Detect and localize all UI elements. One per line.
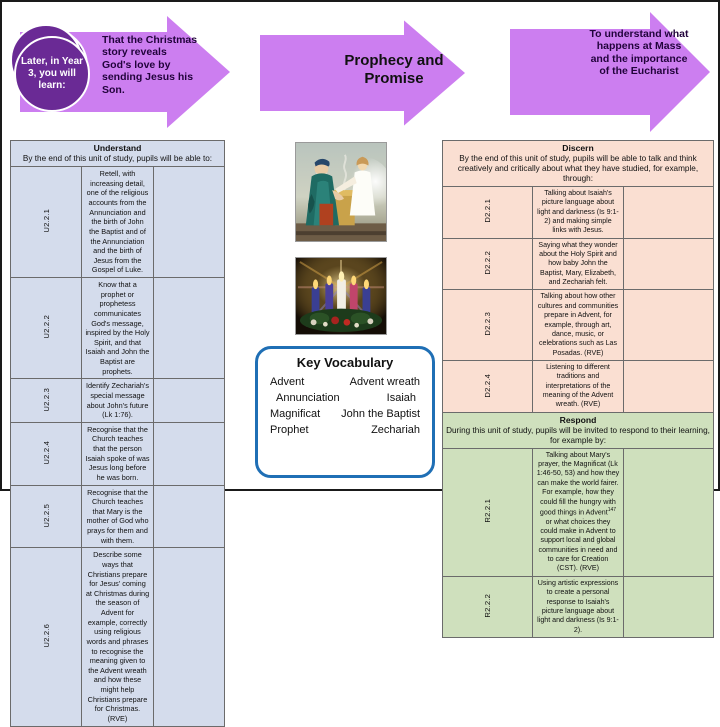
respond-heading-title: Respond xyxy=(446,415,710,425)
vocabulary-term: Advent wreath xyxy=(350,376,420,388)
row-code: U2.2.3 xyxy=(11,379,82,423)
row-notes-cell xyxy=(623,448,713,576)
vocabulary-term: Advent xyxy=(270,376,304,388)
key-vocabulary-title: Key Vocabulary xyxy=(266,355,424,370)
row-notes-cell xyxy=(153,278,224,379)
table-header-row: Respond During this unit of study, pupil… xyxy=(443,412,714,448)
row-code-label: D2.2.2 xyxy=(483,251,492,275)
row-code: U2.2.4 xyxy=(11,422,82,485)
row-notes-cell xyxy=(153,379,224,423)
row-description: Talking about how other cultures and com… xyxy=(533,290,623,361)
future-learning-text: To understand what happens at Mass and t… xyxy=(588,28,690,78)
row-code-label: U2.2.4 xyxy=(42,441,51,465)
understand-heading-sub: By the end of this unit of study, pupils… xyxy=(23,154,212,163)
row-code-label: U2.2.6 xyxy=(42,624,51,648)
row-description: Know that a prophet or prophetess commun… xyxy=(82,278,153,379)
advent-wreath-image xyxy=(295,257,387,335)
vocabulary-row: Advent Advent wreath xyxy=(266,374,424,390)
row-code: R2.2.1 xyxy=(443,448,533,576)
row-code-label: R2.2.2 xyxy=(483,594,492,618)
row-code: U2.2.1 xyxy=(11,167,82,278)
vocabulary-term: Isaiah xyxy=(387,392,416,404)
key-vocabulary-box: Key Vocabulary Advent Advent wreath Annu… xyxy=(255,346,435,478)
table-header-row: Discern By the end of this unit of study… xyxy=(443,141,714,187)
row-code: D2.2.2 xyxy=(443,238,533,290)
zechariah-illustration-icon xyxy=(296,143,386,241)
row-notes-cell xyxy=(623,360,713,412)
row-code: U2.2.5 xyxy=(11,485,82,548)
row-code-label: U2.2.5 xyxy=(42,504,51,528)
row-code: R2.2.2 xyxy=(443,576,533,637)
row-notes-cell xyxy=(623,290,713,361)
row-notes-cell xyxy=(623,576,713,637)
row-description: Talking about Mary's prayer, the Magnifi… xyxy=(533,448,623,576)
row-code: D2.2.1 xyxy=(443,186,533,238)
row-description: Saying what they wonder about the Holy S… xyxy=(533,238,623,290)
row-code-label: D2.2.3 xyxy=(483,312,492,336)
row-description-part: or what choices they could make in Adven… xyxy=(539,518,618,573)
vocabulary-term: John the Baptist xyxy=(341,408,420,420)
understand-heading: Understand By the end of this unit of st… xyxy=(11,141,225,167)
row-notes-cell xyxy=(623,186,713,238)
discern-heading: Discern By the end of this unit of study… xyxy=(443,141,714,187)
table-row: D2.2.1 Talking about Isaiah's picture la… xyxy=(443,186,714,238)
curriculum-slide: That the Christmas story reveals God's l… xyxy=(0,0,720,491)
vocabulary-term: Magnificat xyxy=(270,408,320,420)
row-code-label: U2.2.1 xyxy=(42,209,51,233)
respond-heading: Respond During this unit of study, pupil… xyxy=(443,412,714,448)
zechariah-annunciation-image xyxy=(295,142,387,242)
row-notes-cell xyxy=(153,422,224,485)
future-learning-arrow: To understand what happens at Mass and t… xyxy=(510,12,710,132)
row-code-label: D2.2.4 xyxy=(483,374,492,398)
row-code: U2.2.6 xyxy=(11,548,82,726)
understand-table: Understand By the end of this unit of st… xyxy=(10,140,225,727)
advent-wreath-illustration-icon xyxy=(296,258,386,334)
row-code: D2.2.4 xyxy=(443,360,533,412)
row-code-label: U2.2.2 xyxy=(42,315,51,339)
discern-heading-sub: By the end of this unit of study, pupils… xyxy=(458,154,698,183)
current-unit-arrow: Prophecy and Promise xyxy=(260,20,465,126)
row-description: Identify Zechariah's special message abo… xyxy=(82,379,153,423)
row-description: Retell, with increasing detail, one of t… xyxy=(82,167,153,278)
footnote-marker: 147 xyxy=(608,507,616,513)
row-description: Listening to different traditions and in… xyxy=(533,360,623,412)
table-row: D2.2.3 Talking about how other cultures … xyxy=(443,290,714,361)
table-row: D2.2.4 Listening to different traditions… xyxy=(443,360,714,412)
understand-heading-title: Understand xyxy=(14,143,221,153)
table-row: U2.2.5 Recognise that the Church teaches… xyxy=(11,485,225,548)
row-notes-cell xyxy=(623,238,713,290)
table-row: D2.2.2 Saying what they wonder about the… xyxy=(443,238,714,290)
row-description: Recognise that the Church teaches that t… xyxy=(82,422,153,485)
future-learning-badge: Later, in Year 3, you will learn: xyxy=(14,36,90,112)
discern-heading-title: Discern xyxy=(446,143,710,153)
vocabulary-row: Annunciation Isaiah xyxy=(266,390,424,406)
page-title: Prophecy and Promise xyxy=(338,52,450,87)
row-description: Recognise that the Church teaches that M… xyxy=(82,485,153,548)
row-code-label: R2.2.1 xyxy=(483,499,492,523)
vocabulary-row: Magnificat John the Baptist xyxy=(266,406,424,422)
vocabulary-term: Prophet xyxy=(270,424,309,436)
table-row: U2.2.2 Know that a prophet or prophetess… xyxy=(11,278,225,379)
row-description: Describe some ways that Christians prepa… xyxy=(82,548,153,726)
row-code-label: D2.2.1 xyxy=(483,199,492,223)
table-header-row: Understand By the end of this unit of st… xyxy=(11,141,225,167)
vocabulary-row: Prophet Zechariah xyxy=(266,422,424,438)
table-row: U2.2.1 Retell, with increasing detail, o… xyxy=(11,167,225,278)
vocabulary-term: Zechariah xyxy=(371,424,420,436)
row-description: Using artistic expressions to create a p… xyxy=(533,576,623,637)
row-code: U2.2.2 xyxy=(11,278,82,379)
table-row: U2.2.6 Describe some ways that Christian… xyxy=(11,548,225,726)
table-row: U2.2.4 Recognise that the Church teaches… xyxy=(11,422,225,485)
discern-respond-table: Discern By the end of this unit of study… xyxy=(442,140,714,638)
row-description: Talking about Isaiah's picture language … xyxy=(533,186,623,238)
row-code-label: U2.2.3 xyxy=(42,388,51,412)
row-notes-cell xyxy=(153,485,224,548)
row-notes-cell xyxy=(153,548,224,726)
table-row: R2.2.1 Talking about Mary's prayer, the … xyxy=(443,448,714,576)
table-row: R2.2.2 Using artistic expressions to cre… xyxy=(443,576,714,637)
prior-learning-text: That the Christmas story reveals God's l… xyxy=(102,34,198,96)
row-code: D2.2.3 xyxy=(443,290,533,361)
table-row: U2.2.3 Identify Zechariah's special mess… xyxy=(11,379,225,423)
vocabulary-term: Annunciation xyxy=(276,392,340,404)
row-notes-cell xyxy=(153,167,224,278)
respond-heading-sub: During this unit of study, pupils will b… xyxy=(446,426,710,445)
